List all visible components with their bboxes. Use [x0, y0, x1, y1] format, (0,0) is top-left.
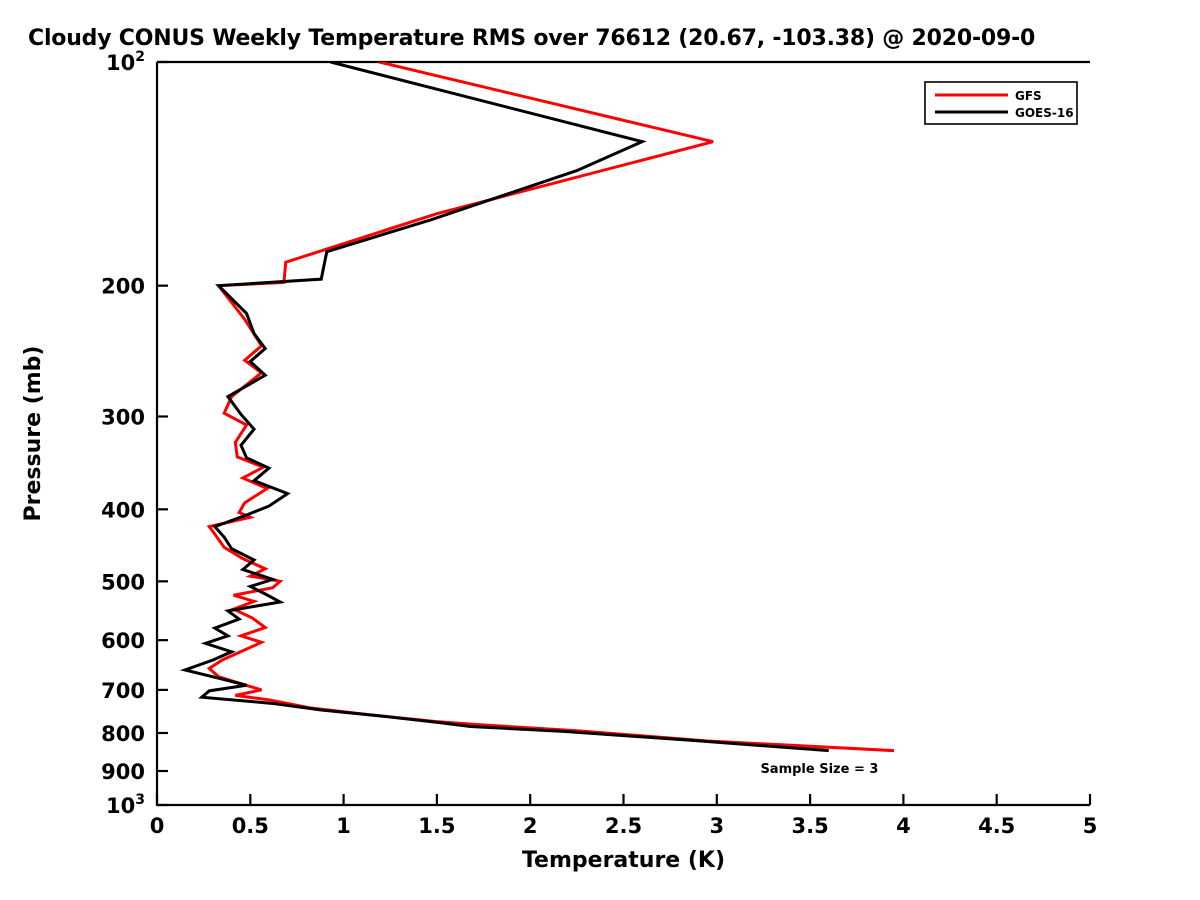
series-group	[185, 62, 894, 751]
y-tick-label: 300	[101, 406, 145, 430]
series-line-gfs	[209, 62, 894, 751]
legend-label-gfs: GFS	[1015, 89, 1042, 103]
x-tick-label: 1.5	[418, 814, 455, 838]
y-tick-label: 900	[101, 760, 145, 784]
y-tick-label: 102	[106, 49, 145, 75]
series-line-goes-16	[185, 62, 829, 751]
y-tick-label: 800	[101, 722, 145, 746]
x-tick-label: 0.5	[232, 814, 269, 838]
x-axis-title: Temperature (K)	[522, 848, 725, 873]
sample-size-annotation: Sample Size = 3	[760, 762, 878, 777]
y-tick-label: 200	[101, 275, 145, 299]
legend-label-goes-16: GOES-16	[1015, 106, 1074, 120]
x-tick-label: 2.5	[605, 814, 642, 838]
x-tick-label: 4.5	[978, 814, 1015, 838]
x-tick-label: 3.5	[791, 814, 828, 838]
x-tick-label: 0	[150, 814, 165, 838]
x-tick-label: 3	[709, 814, 724, 838]
y-axis-title: Pressure (mb)	[21, 346, 46, 522]
chart-legend: GFSGOES-16	[925, 82, 1077, 124]
x-tick-label: 5	[1083, 814, 1098, 838]
y-tick-label: 500	[101, 570, 145, 594]
chart-figure: Cloudy CONUS Weekly Temperature RMS over…	[0, 0, 1200, 900]
y-tick-label: 400	[101, 498, 145, 522]
temperature-rms-profile-plot: 10220030040050060070080090010300.511.522…	[0, 0, 1200, 900]
x-tick-label: 2	[523, 814, 538, 838]
axis-frame	[157, 62, 1090, 805]
y-tick-label: 103	[106, 792, 145, 818]
x-tick-label: 4	[896, 814, 911, 838]
y-tick-label: 600	[101, 629, 145, 653]
x-tick-label: 1	[336, 814, 351, 838]
y-tick-label: 700	[101, 679, 145, 703]
